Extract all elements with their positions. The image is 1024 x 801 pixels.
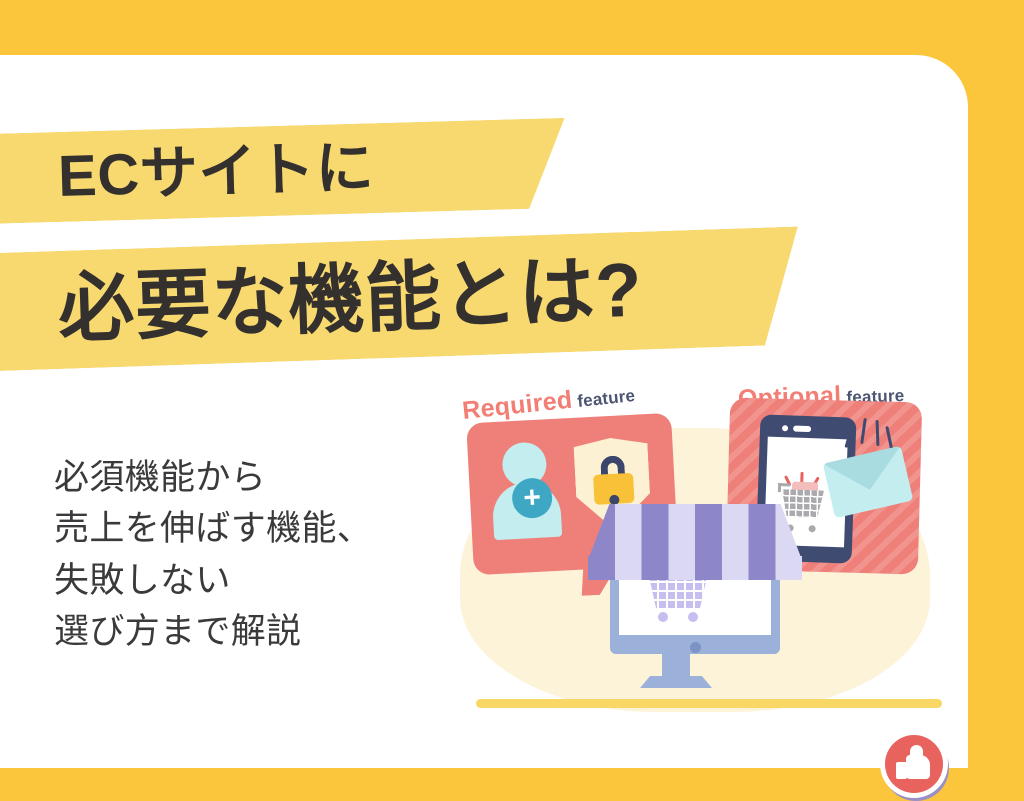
lock-icon	[592, 455, 634, 505]
thumb-hand	[906, 755, 930, 779]
lock-body	[593, 473, 635, 505]
subtitle-line-3: 失敗しない	[54, 555, 372, 606]
cart-wheel-right	[688, 612, 698, 622]
phone-camera-dot	[782, 425, 788, 431]
illustration: Requiredfeature Optionalfeature +	[440, 380, 968, 720]
page-frame: ECサイトに 必要な機能とは? 必須機能から 売上を伸ばす機能、 失敗しない 選…	[0, 0, 1024, 768]
phone-speaker-bar	[793, 426, 811, 433]
subtitle-line-2: 売上を伸ばす機能、	[54, 503, 372, 554]
title-banner-line1: ECサイトに	[0, 118, 567, 224]
subtitle-line-4: 選び方まで解説	[54, 606, 372, 657]
page-title-line2: 必要な機能とは?	[57, 253, 644, 348]
thumbs-up-icon	[896, 745, 932, 781]
cart-wheel-right	[808, 525, 815, 532]
subtitle-line-1: 必須機能から	[54, 452, 372, 503]
subtitle-block: 必須機能から 売上を伸ばす機能、 失敗しない 選び方まで解説	[54, 452, 372, 658]
monitor-base	[640, 676, 712, 688]
required-label-secondary: feature	[576, 386, 636, 411]
ground-line	[476, 699, 942, 708]
cart-wheel-left	[658, 612, 668, 622]
storefront-monitor	[588, 504, 802, 702]
page-title-line1: ECサイトに	[57, 139, 375, 206]
awning-scallop	[588, 556, 802, 580]
awning	[588, 504, 802, 560]
monitor-button	[690, 642, 701, 653]
thumbs-up-badge	[880, 730, 948, 798]
